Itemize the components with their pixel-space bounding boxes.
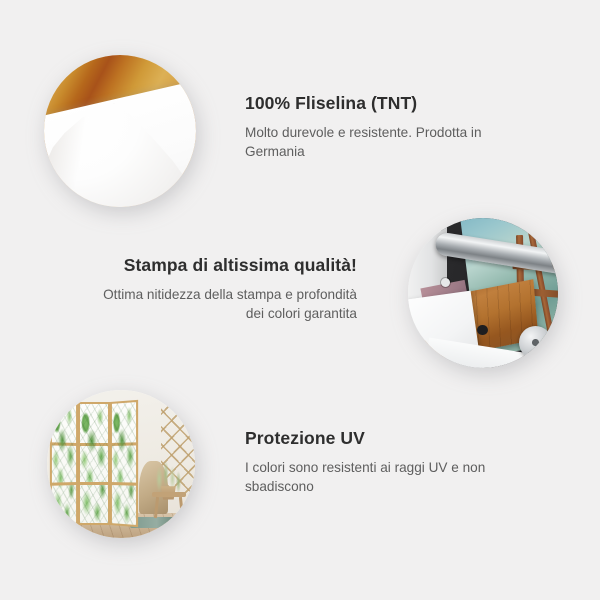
divider-panel <box>78 402 110 525</box>
machine-small-knob <box>441 278 450 287</box>
roller-end-cap <box>549 254 558 262</box>
stool-leg <box>179 497 184 518</box>
circle-image-mask-2 <box>408 218 558 368</box>
feature-title: 100% Fliselina (TNT) <box>245 93 500 114</box>
feature-text-protezione-uv: Protezione UV I colori sono resistenti a… <box>245 428 500 497</box>
room-divider-photo <box>47 390 195 538</box>
wooden-stool <box>152 492 186 517</box>
feature-text-stampa-qualita: Stampa di altissima qualità! Ottima niti… <box>102 255 357 324</box>
leaf-pattern <box>112 402 137 525</box>
circle-image-mask-3 <box>47 390 195 538</box>
feature-title: Protezione UV <box>245 428 500 449</box>
infographic-canvas: 100% Fliselina (TNT) Molto durevole e re… <box>0 0 600 600</box>
feature-text-fliselina: 100% Fliselina (TNT) Molto durevole e re… <box>245 93 500 162</box>
feature-description: Ottima nitidezza della stampa e profondi… <box>102 285 357 324</box>
tropical-room-divider <box>50 402 139 525</box>
wallpaper-peel-photo <box>44 55 196 207</box>
leaf-pattern <box>80 404 108 523</box>
feature-title: Stampa di altissima qualità! <box>102 255 357 276</box>
feature-description: Molto durevole e resistente. Prodotta in… <box>245 123 500 162</box>
stool-leg <box>154 497 159 518</box>
printing-machine-photo <box>408 218 558 368</box>
feature-description: I colori sono resistenti ai raggi UV e n… <box>245 458 500 497</box>
machine-lower-roller <box>519 326 552 359</box>
machine-knob <box>477 325 488 336</box>
divider-panel <box>50 400 79 527</box>
circle-image-mask-1 <box>44 55 196 207</box>
divider-panel <box>110 400 139 527</box>
leaf-pattern <box>52 402 77 525</box>
